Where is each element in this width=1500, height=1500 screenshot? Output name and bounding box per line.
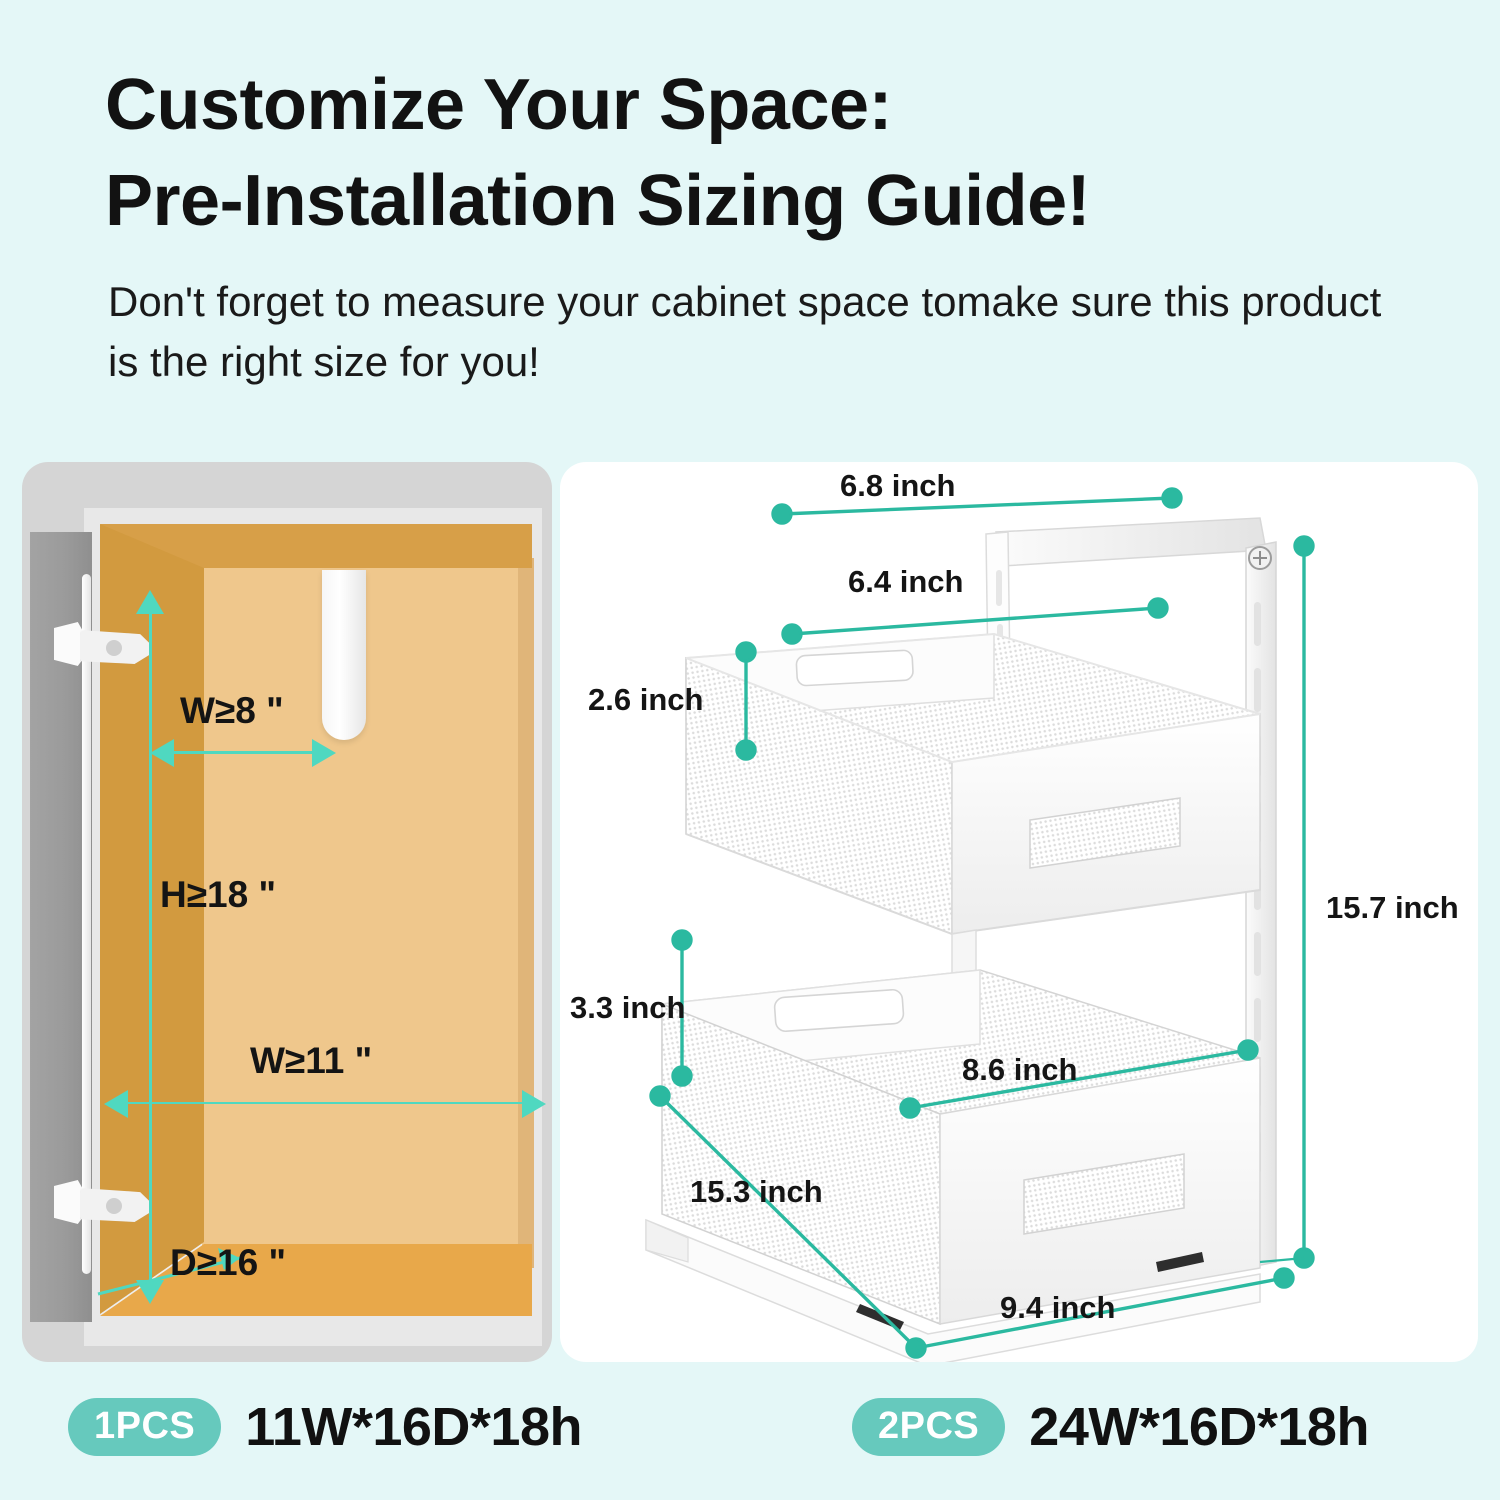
dim-label-opening-width: W≥11 " [250, 1040, 372, 1082]
dim-arrow-left [150, 739, 174, 767]
plumbing-pipe [322, 570, 366, 740]
dim-label-inner-height: H≥18 " [160, 874, 276, 916]
cabinet-hinge-icon [54, 610, 150, 674]
dim-arrow-up [136, 590, 164, 614]
dim-arrow-down [136, 1280, 164, 1304]
upper-basket [686, 634, 1260, 1002]
size-spec-1: 11W*16D*18h [245, 1396, 582, 1458]
dim-arrow-left [104, 1090, 128, 1118]
dim-label-inner-width: W≥8 " [180, 690, 284, 732]
organizer-illustration: 6.8 inch 6.4 inch 2.6 inch 3.3 inch 8.6 … [560, 462, 1478, 1362]
dim-label-top-shelf-inner-width: 6.4 inch [848, 564, 963, 600]
title-line-2: Pre-Installation Sizing Guide! [105, 154, 1435, 250]
lower-basket [646, 970, 1260, 1362]
hinge-cup [106, 640, 122, 656]
dim-label-bottom-basket-height: 3.3 inch [570, 990, 685, 1026]
size-option-2: 2PCS 24W*16D*18h [852, 1396, 1369, 1458]
cabinet-diagram-panel: W≥8 " H≥18 " W≥11 " D≥16 " [22, 462, 552, 1362]
cabinet-right-edge [518, 558, 534, 1268]
dim-line-opening-width [128, 1102, 536, 1104]
size-spec-2: 24W*16D*18h [1029, 1396, 1369, 1458]
quantity-badge-1: 1PCS [68, 1398, 221, 1456]
dim-arrow-right [522, 1090, 546, 1118]
dim-line-inner-width [174, 751, 324, 754]
dim-label-bottom-basket-inner-depth: 8.6 inch [962, 1052, 1077, 1088]
hinge-cup [106, 1198, 122, 1214]
cabinet-illustration: W≥8 " H≥18 " W≥11 " D≥16 " [22, 462, 552, 1362]
dim-label-bottom-basket-width: 9.4 inch [1000, 1290, 1115, 1326]
dim-label-top-basket-height: 2.6 inch [588, 682, 703, 718]
title-line-1: Customize Your Space: [105, 65, 892, 145]
dim-label-top-shelf-outer-width: 6.8 inch [840, 468, 955, 504]
dim-arrow-right [312, 739, 336, 767]
dim-line-inner-height [149, 612, 152, 1284]
page-subtitle: Don't forget to measure your cabinet spa… [108, 272, 1398, 391]
product-diagram-panel: 6.8 inch 6.4 inch 2.6 inch 3.3 inch 8.6 … [560, 462, 1478, 1362]
infographic-canvas: Customize Your Space: Pre-Installation S… [0, 0, 1500, 1500]
dim-label-depth: D≥16 " [170, 1242, 286, 1284]
page-title: Customize Your Space: Pre-Installation S… [105, 58, 1435, 250]
dim-label-bottom-basket-length: 15.3 inch [690, 1174, 823, 1210]
cabinet-hinge-icon [54, 1168, 150, 1232]
quantity-badge-2: 2PCS [852, 1398, 1005, 1456]
size-option-1: 1PCS 11W*16D*18h [68, 1396, 582, 1458]
dim-label-total-height: 15.7 inch [1326, 890, 1459, 926]
